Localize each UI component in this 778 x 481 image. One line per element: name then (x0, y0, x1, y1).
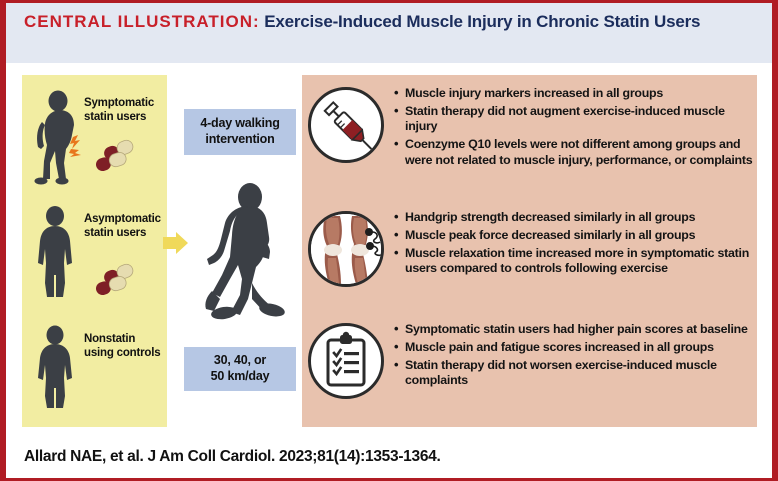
capsule-pills-svg (92, 139, 146, 171)
intervention-distance-line1: 30, 40, or (214, 353, 266, 367)
citation-text: Allard NAE, et al. J Am Coll Cardiol. 20… (24, 448, 440, 466)
page-title: CENTRAL ILLUSTRATION: Exercise-Induced M… (24, 11, 758, 33)
person-standing-icon (22, 325, 84, 411)
walking-person-icon (194, 179, 294, 329)
person-standing-svg (31, 325, 81, 411)
leg-muscle-electrodes-icon (308, 211, 384, 287)
group-label-line1: Symptomatic (84, 97, 154, 109)
group-label-line2: using controls (84, 347, 160, 359)
central-illustration-figure: CENTRAL ILLUSTRATION: Exercise-Induced M… (0, 0, 778, 481)
group-label-line1: Asymptomatic (84, 213, 161, 225)
capsule-pills-icon (92, 139, 146, 169)
intervention-duration-line1: 4-day walking (200, 116, 279, 130)
intervention-box-distance: 30, 40, or 50 km/day (184, 347, 296, 391)
study-group-asymptomatic: Asymptomatic statin users (22, 205, 167, 310)
page-title-text: Exercise-Induced Muscle Injury in Chroni… (264, 12, 700, 31)
result-row-pain-complaints: Symptomatic statin users had higher pain… (308, 321, 756, 399)
list-item: Symptomatic statin users had higher pain… (394, 322, 756, 337)
result-bullets-1: Muscle injury markers increased in all g… (384, 85, 756, 171)
person-standing-svg (31, 205, 81, 301)
list-item: Muscle injury markers increased in all g… (394, 86, 756, 101)
capsule-pills-svg (92, 263, 146, 295)
study-group-symptomatic: Symptomatic statin users (22, 89, 167, 194)
group-label-asymptomatic: Asymptomatic statin users (84, 205, 161, 241)
group-label-line1: Nonstatin (84, 333, 135, 345)
leg-muscle-electrodes-svg (311, 214, 381, 284)
syringe-blood-icon (308, 87, 384, 163)
clipboard-checklist-icon (308, 323, 384, 399)
intervention-duration-line2: intervention (205, 132, 274, 146)
study-group-nonstatin-controls: Nonstatin using controls (22, 325, 167, 415)
clipboard-checklist-svg (311, 326, 381, 396)
list-item: Statin therapy did not augment exercise-… (394, 104, 756, 134)
person-in-pain-icon (22, 89, 84, 185)
intervention-distance-line2: 50 km/day (211, 369, 270, 383)
arrow-right-yellow-svg (163, 231, 189, 255)
list-item: Muscle pain and fatigue scores increased… (394, 340, 756, 355)
person-standing-icon (22, 205, 84, 301)
result-bullets-3: Symptomatic statin users had higher pain… (384, 321, 756, 392)
walking-person-svg (194, 179, 294, 329)
central-illustration-label: CENTRAL ILLUSTRATION: (24, 12, 260, 31)
study-groups-panel: Symptomatic statin users (22, 75, 167, 427)
arrow-right-yellow-icon (163, 231, 189, 255)
intervention-box-duration: 4-day walking intervention (184, 109, 296, 155)
person-in-pain-svg (31, 89, 81, 185)
group-label-symptomatic: Symptomatic statin users (84, 89, 154, 125)
list-item: Coenzyme Q10 levels were not different a… (394, 137, 756, 167)
list-item: Muscle relaxation time increased more in… (394, 246, 756, 276)
result-row-muscle-function: Handgrip strength decreased similarly in… (308, 209, 756, 287)
group-label-line2: statin users (84, 111, 146, 123)
syringe-blood-svg (311, 90, 381, 160)
list-item: Handgrip strength decreased similarly in… (394, 210, 756, 225)
group-label-line2: statin users (84, 227, 146, 239)
result-row-muscle-injury-markers: Muscle injury markers increased in all g… (308, 85, 756, 171)
result-bullets-2: Handgrip strength decreased similarly in… (384, 209, 756, 280)
list-item: Statin therapy did not worsen exercise-i… (394, 358, 756, 388)
group-label-nonstatin: Nonstatin using controls (84, 325, 160, 361)
list-item: Muscle peak force decreased similarly in… (394, 228, 756, 243)
figure-title-bar: CENTRAL ILLUSTRATION: Exercise-Induced M… (6, 3, 772, 63)
capsule-pills-icon (92, 263, 146, 293)
